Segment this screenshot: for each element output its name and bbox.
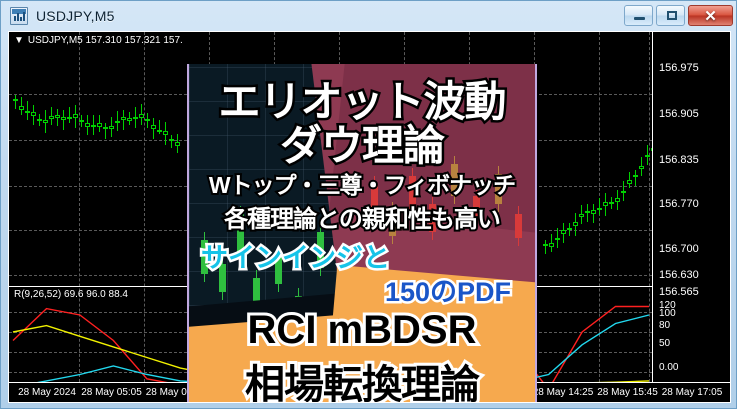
price-tick-label: 156.565: [659, 286, 699, 298]
promo-line-6: 150のPDF: [189, 270, 535, 309]
price-tick-label: 156.975: [659, 62, 699, 74]
chart-header-text: USDJPY,M5 157.310 157.321 157.: [28, 35, 183, 46]
indicator-tick-label: 100: [659, 308, 676, 319]
screenshot-root: USDJPY,M5 ✕ 156.975156.905156.835156.770…: [0, 0, 737, 409]
promo-line-8: 相場転換理論: [189, 352, 535, 403]
chart-canvas[interactable]: 156.975156.905156.835156.770156.700156.6…: [8, 31, 731, 403]
window-title: USDJPY,M5: [36, 8, 115, 24]
time-tick-label: 28 May 14:25: [533, 387, 594, 398]
window-controls: ✕: [624, 5, 733, 26]
time-tick-label: 28 May 17:05: [662, 387, 723, 398]
indicator-tick-label: 0.00: [659, 362, 678, 373]
promo-text-block: エリオット波動 ダウ理論 Wトップ・三尊・フィボナッチ 各種理論との親和性も高い…: [189, 64, 535, 403]
price-tick-label: 156.700: [659, 243, 699, 255]
window-titlebar[interactable]: USDJPY,M5 ✕: [2, 2, 737, 30]
time-tick-label: 28 May 2024: [18, 387, 76, 398]
price-tick-label: 156.835: [659, 154, 699, 166]
close-icon: ✕: [689, 6, 732, 25]
price-tick-label: 156.905: [659, 108, 699, 120]
price-tick-label: 156.630: [659, 269, 699, 281]
chart-header-label: ▼USDJPY,M5 157.310 157.321 157.: [14, 35, 183, 46]
maximize-button[interactable]: [656, 5, 685, 26]
application-window: USDJPY,M5 ✕ 156.975156.905156.835156.770…: [0, 0, 737, 409]
chart-window-icon: [10, 7, 28, 25]
promo-line-4: 各種理論との親和性も高い: [189, 199, 535, 234]
price-scale[interactable]: 156.975156.905156.835156.770156.700156.6…: [652, 32, 730, 402]
promo-overlay: エリオット波動 ダウ理論 Wトップ・三尊・フィボナッチ 各種理論との親和性も高い…: [187, 64, 537, 403]
promo-line-3: Wトップ・三尊・フィボナッチ: [189, 166, 535, 200]
promo-line-7: RCI mBDSR: [189, 308, 535, 353]
minimize-button[interactable]: [624, 5, 653, 26]
indicator-tick-label: 80: [659, 320, 670, 331]
minimize-icon: [634, 17, 645, 20]
maximize-icon: [667, 11, 677, 20]
chart-collapse-icon[interactable]: ▼: [14, 35, 24, 46]
promo-line-2: ダウ理論: [189, 112, 535, 173]
indicator-header-label: R(9,26,52) 69.6 96.0 88.4: [14, 289, 128, 300]
price-tick-label: 156.770: [659, 198, 699, 210]
indicator-tick-label: 50: [659, 338, 670, 349]
time-tick-label: 28 May 05:05: [81, 387, 142, 398]
close-button[interactable]: ✕: [688, 5, 733, 26]
time-tick-label: 28 May 15:45: [597, 387, 658, 398]
